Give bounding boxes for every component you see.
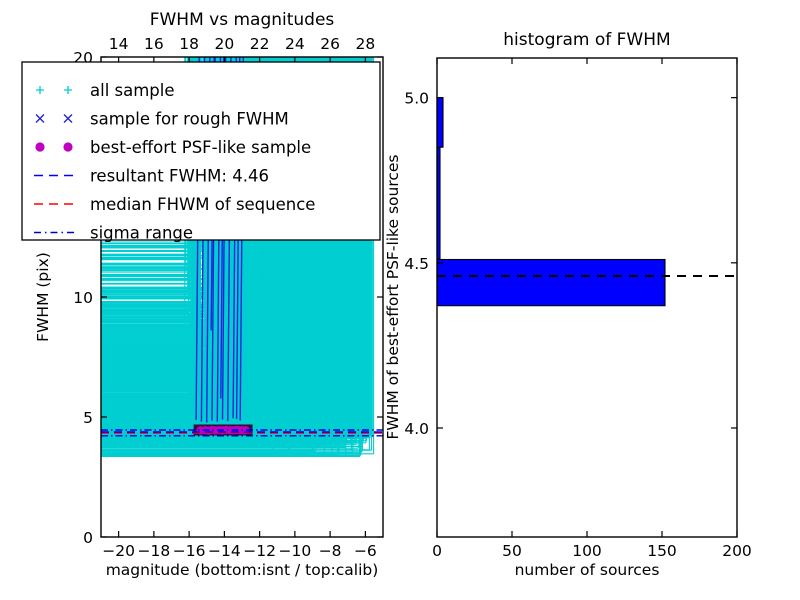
left-xtick-label: −16 — [173, 542, 206, 560]
figure-canvas: FWHM vs magnitudes — [0, 0, 800, 600]
left-top-xtick-label: 28 — [356, 35, 376, 53]
dot-icon — [35, 142, 44, 151]
right-ytick-label: 4.0 — [404, 420, 429, 438]
right-ytick-label: 5.0 — [404, 90, 429, 108]
left-panel-ylabel-right: FWHM of best-effort PSF-like sources — [384, 154, 402, 439]
left-top-xtick-label: 14 — [109, 35, 129, 53]
left-top-xtick-label: 20 — [215, 35, 235, 53]
left-ytick-label: 0 — [83, 529, 93, 547]
right-panel-xlabel: number of sources — [515, 561, 660, 579]
dot-icon — [63, 142, 72, 151]
right-ytick-label: 4.5 — [404, 255, 429, 273]
left-xtick-label: −20 — [102, 542, 135, 560]
right-panel-title: histogram of FWHM — [503, 30, 670, 50]
legend-entry-label: all sample — [90, 81, 175, 100]
right-xtick-label: 50 — [502, 542, 522, 560]
histogram-bar — [437, 260, 665, 306]
left-panel-xlabel: magnitude (bottom:isnt / top:calib) — [106, 561, 379, 579]
left-top-xtick-label: 26 — [320, 35, 340, 53]
left-xtick-label: −6 — [354, 542, 377, 560]
legend-entry-label: resultant FWHM: 4.46 — [90, 167, 269, 186]
left-xtick-label: −14 — [208, 542, 241, 560]
left-panel-title: FWHM vs magnitudes — [150, 10, 335, 30]
matplotlib-figure: FWHM vs magnitudes — [0, 0, 800, 600]
left-ytick-label: 10 — [73, 289, 93, 307]
right-xtick-label: 100 — [572, 542, 602, 560]
legend-entry-label: median FHWM of sequence — [90, 195, 315, 214]
right-xtick-label: 0 — [432, 542, 442, 560]
left-top-xtick-label: 18 — [179, 35, 199, 53]
left-top-xtick-label: 24 — [285, 35, 305, 53]
left-xtick-label: −18 — [138, 542, 171, 560]
left-xtick-label: −10 — [279, 542, 312, 560]
legend-entry-label: sigma range — [90, 224, 193, 243]
right-xtick-label: 150 — [647, 542, 677, 560]
left-xtick-label: −8 — [319, 542, 342, 560]
left-top-xtick-label: 22 — [250, 35, 270, 53]
legend-entry-label: best-effort PSF-like sample — [90, 138, 311, 157]
left-panel-ylabel: FWHM (pix) — [34, 252, 52, 342]
legend: all samplesample for rough FWHMbest-effo… — [22, 62, 380, 243]
left-ytick-label: 5 — [83, 409, 93, 427]
histogram-bar — [437, 98, 443, 148]
left-top-xtick-label: 16 — [144, 35, 164, 53]
left-xtick-label: −12 — [243, 542, 276, 560]
right-xtick-label: 200 — [722, 542, 752, 560]
legend-entry-label: sample for rough FWHM — [90, 110, 289, 129]
